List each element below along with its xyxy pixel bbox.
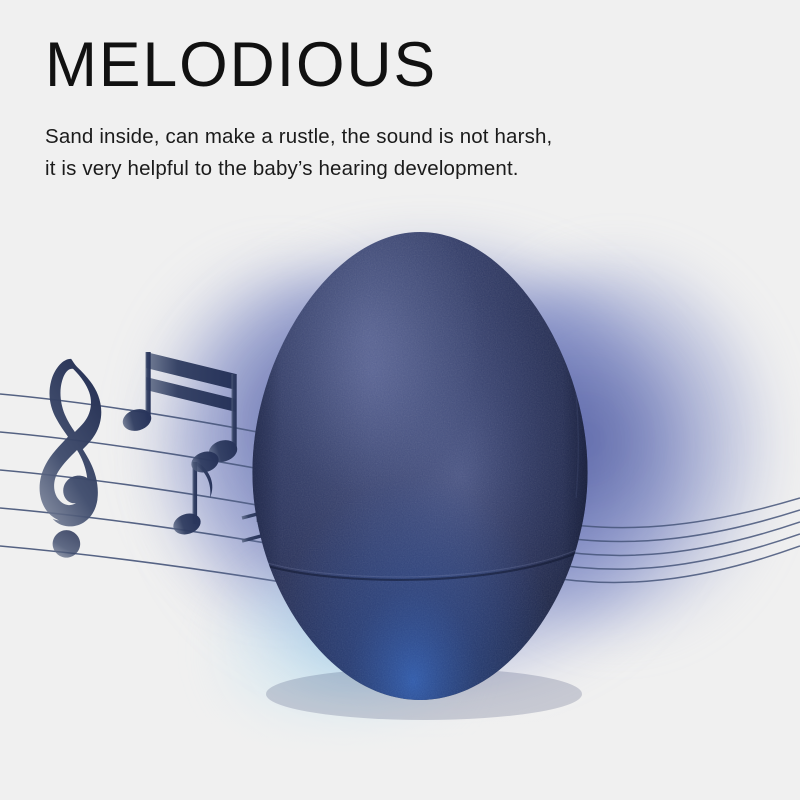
product-scene: [0, 0, 800, 800]
matte-texture: [250, 232, 595, 702]
product-banner: MELODIOUS Sand inside, can make a rustle…: [0, 0, 800, 800]
egg-shaker-product: [0, 0, 800, 800]
